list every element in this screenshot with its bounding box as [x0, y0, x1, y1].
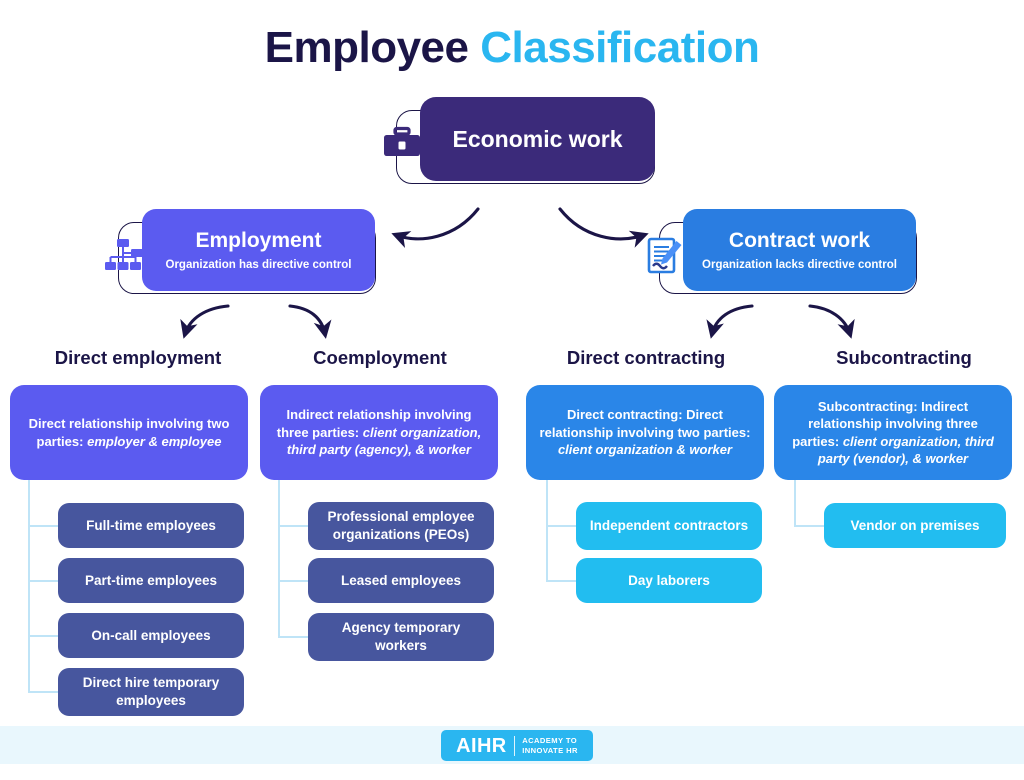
node-employment-subtitle: Organization has directive control	[166, 258, 352, 273]
description-direct-contracting-italic: client organization & worker	[558, 442, 732, 457]
node-economic-work[interactable]: Economic work	[420, 97, 655, 181]
connector-stub-de-2	[28, 580, 58, 582]
connector-stub-ce-2	[278, 580, 308, 582]
node-economic-work-label: Economic work	[453, 125, 623, 153]
logo-tagline: ACADEMY TO INNOVATE HR	[522, 736, 578, 755]
category-heading-direct-employment: Direct employment	[20, 346, 256, 370]
connector-stub-ce-1	[278, 525, 308, 527]
category-heading-direct-contracting: Direct contracting	[528, 346, 764, 370]
arrow-contract-to-subcontracting	[810, 306, 850, 334]
description-direct-employment-italic: employer & employee	[87, 434, 221, 449]
arrow-contract-to-direct-contracting	[712, 306, 752, 334]
logo-tagline-line1: ACADEMY TO	[522, 736, 577, 745]
node-contract-work-subtitle: Organization lacks directive control	[702, 258, 897, 273]
title-part-one: Employee	[265, 23, 469, 72]
arrow-economic-to-employment	[396, 209, 478, 239]
leaf-leased-employees[interactable]: Leased employees	[308, 558, 494, 603]
connector-stub-de-1	[28, 525, 58, 527]
aihr-logo: AIHR ACADEMY TO INNOVATE HR	[441, 730, 593, 761]
leaf-direct-hire-temporary-employees[interactable]: Direct hire temporary employees	[58, 668, 244, 716]
connector-stub-de-4	[28, 691, 58, 693]
briefcase-icon	[382, 126, 422, 160]
connector-trunk-coemployment	[278, 480, 280, 637]
node-contract-work-label: Contract work	[729, 228, 870, 254]
logo-wordmark: AIHR	[456, 736, 507, 756]
leaf-vendor-on-premises[interactable]: Vendor on premises	[824, 503, 1006, 548]
leaf-part-time-employees[interactable]: Part-time employees	[58, 558, 244, 603]
arrow-employment-to-coemployment	[290, 306, 325, 334]
description-direct-contracting[interactable]: Direct contracting: Direct relationship …	[526, 385, 764, 480]
connector-trunk-direct-contracting	[546, 480, 548, 581]
org-chart-icon	[103, 238, 145, 272]
category-heading-subcontracting: Subcontracting	[786, 346, 1022, 370]
title-part-two: Classification	[480, 23, 759, 72]
connector-stub-dc-2	[546, 580, 576, 582]
description-subcontracting[interactable]: Subcontracting: Indirect relationship in…	[774, 385, 1012, 480]
connector-stub-sc-1	[794, 525, 824, 527]
connector-stub-ce-3	[278, 636, 308, 638]
connector-stub-dc-1	[546, 525, 576, 527]
category-heading-coemployment: Coemployment	[262, 346, 498, 370]
page-title: Employee Classification	[0, 22, 1024, 74]
node-employment-label: Employment	[195, 228, 321, 254]
description-direct-employment[interactable]: Direct relationship involving two partie…	[10, 385, 248, 480]
leaf-day-laborers[interactable]: Day laborers	[576, 558, 762, 603]
leaf-on-call-employees[interactable]: On-call employees	[58, 613, 244, 658]
connector-trunk-subcontracting	[794, 480, 796, 526]
signed-document-icon	[645, 236, 685, 276]
leaf-agency-temporary-workers[interactable]: Agency temporary workers	[308, 613, 494, 661]
arrow-employment-to-direct-employment	[185, 306, 228, 334]
logo-tagline-line2: INNOVATE HR	[522, 746, 578, 755]
connector-stub-de-3	[28, 635, 58, 637]
description-subcontracting-italic: client organization, third party (vendor…	[818, 434, 994, 467]
leaf-independent-contractors[interactable]: Independent contractors	[576, 502, 762, 550]
connector-trunk-direct-employment	[28, 480, 30, 692]
description-direct-contracting-bold: Direct contracting: Direct relationship …	[540, 407, 751, 440]
node-contract-work[interactable]: Contract work Organization lacks directi…	[683, 209, 916, 291]
logo-divider	[514, 736, 516, 756]
node-employment[interactable]: Employment Organization has directive co…	[142, 209, 375, 291]
leaf-professional-employee-organizations[interactable]: Professional employee organizations (PEO…	[308, 502, 494, 550]
arrow-economic-to-contract	[560, 209, 644, 239]
description-coemployment[interactable]: Indirect relationship involving three pa…	[260, 385, 498, 480]
leaf-full-time-employees[interactable]: Full-time employees	[58, 503, 244, 548]
diagram-canvas: Employee Classification Economic work Em…	[0, 0, 1024, 780]
